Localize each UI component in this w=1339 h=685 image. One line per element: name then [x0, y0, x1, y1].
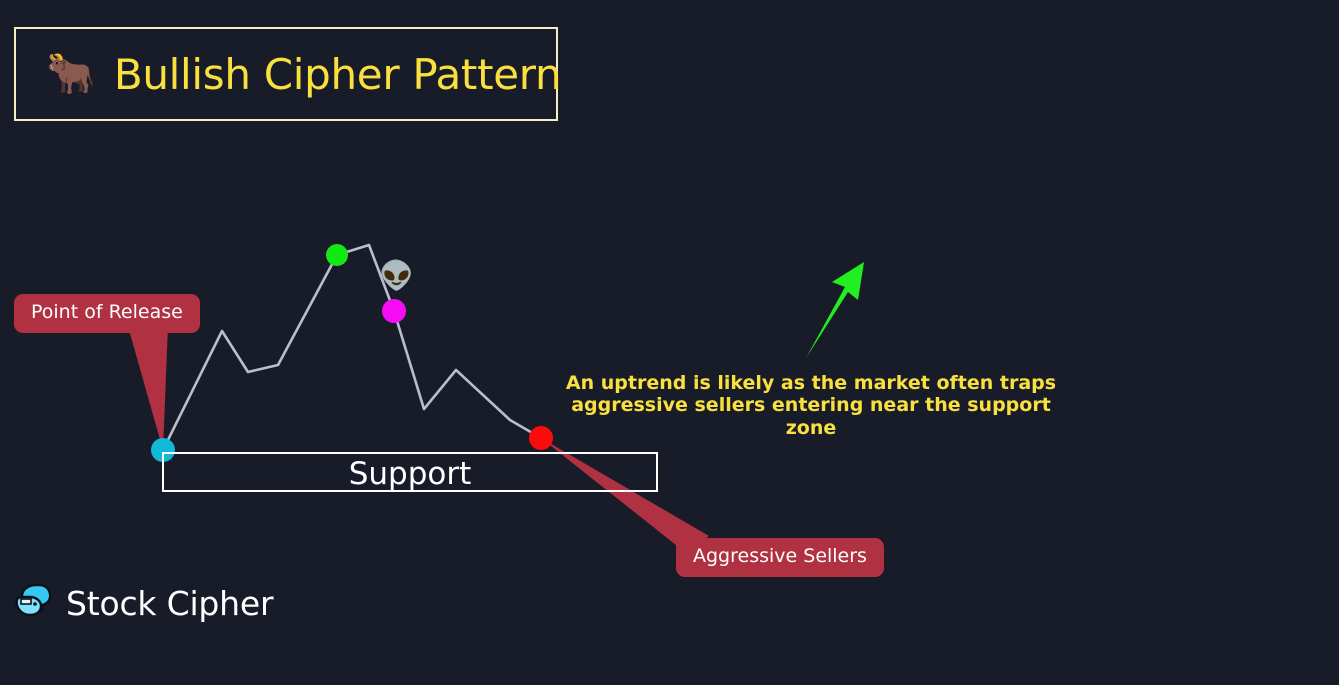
uptrend-arrow: [806, 262, 864, 358]
swing-high-dot: [326, 244, 348, 266]
point-of-release-pointer: [129, 326, 168, 450]
whale-icon: [14, 582, 56, 624]
uptrend-annotation-line-2: aggressive sellers entering near the sup…: [551, 394, 1071, 439]
uptrend-annotation-line-1: An uptrend is likely as the market often…: [551, 372, 1071, 394]
brand-name: Stock Cipher: [66, 587, 273, 620]
brand-logo: Stock Cipher: [14, 582, 273, 624]
callout-point-of-release: Point of Release: [14, 294, 200, 333]
aggressive-sellers-dot: [529, 426, 553, 450]
uptrend-annotation: An uptrend is likely as the market often…: [551, 372, 1071, 439]
cipher-signal-dot: [382, 299, 406, 323]
support-label: Support: [162, 454, 658, 494]
price-line: [163, 245, 541, 450]
callout-aggressive-sellers: Aggressive Sellers: [676, 538, 884, 577]
alien-emoji: 👽: [379, 262, 414, 290]
